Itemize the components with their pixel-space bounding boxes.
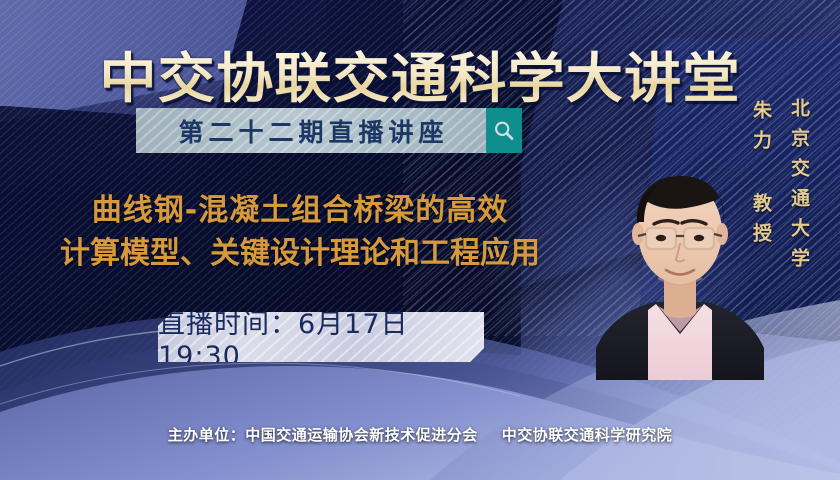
lecture-title-line-1: 曲线钢-混凝土组合桥梁的高效 [92, 193, 508, 228]
footer-prefix: 主办单位： [168, 426, 246, 444]
episode-label: 第二十二期直播讲座 [173, 113, 448, 149]
page-title: 中交协联交通科学大讲堂 [0, 48, 840, 111]
search-button[interactable] [486, 108, 522, 153]
webinar-poster: 中交协联交通科学大讲堂 第二十二期直播讲座 曲线钢-混凝土组合桥梁的高效 计算模… [0, 0, 840, 480]
speaker-portrait [596, 128, 764, 380]
broadcast-time-label: 直播时间：6月17日19:30 [158, 312, 484, 362]
footer-organizer-1: 中国交通运输协会新技术促进分会 [245, 426, 478, 444]
search-icon [492, 119, 516, 143]
lecture-title: 曲线钢-混凝土组合桥梁的高效 计算模型、关键设计理论和工程应用 [0, 190, 600, 275]
footer-organizer-2: 中交协联交通科学研究院 [502, 426, 673, 444]
speaker-name: 朱力 教授 [748, 100, 775, 253]
episode-banner: 第二十二期直播讲座 [136, 108, 522, 153]
speaker-organization: 北京交通大学 [786, 98, 813, 278]
footer-organizers: 主办单位：中国交通运输协会新技术促进分会中交协联交通科学研究院 [0, 424, 840, 445]
episode-banner-body: 第二十二期直播讲座 [136, 108, 486, 153]
lecture-title-line-2: 计算模型、关键设计理论和工程应用 [0, 233, 600, 276]
broadcast-time-badge: 直播时间：6月17日19:30 [158, 312, 484, 362]
